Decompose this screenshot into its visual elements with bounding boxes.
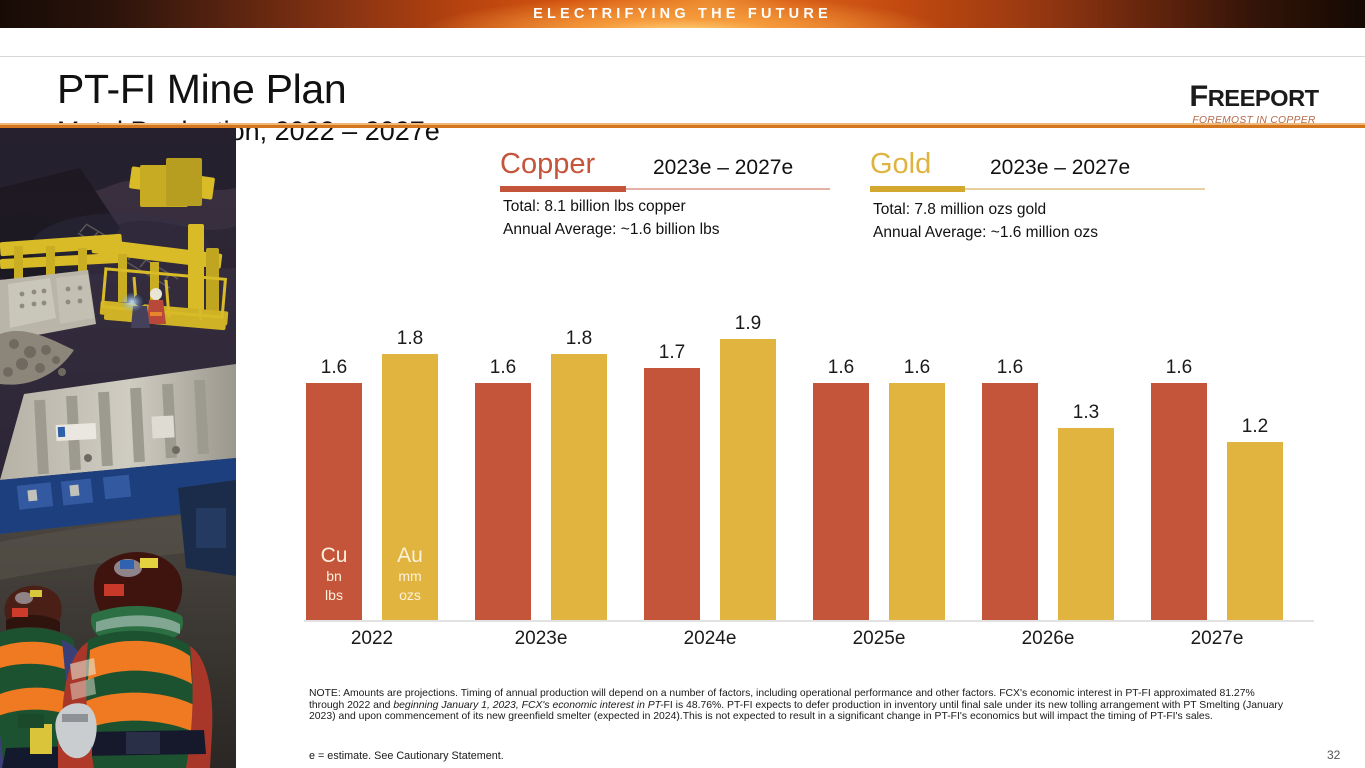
footnote-note: NOTE: Amounts are projections. Timing of… <box>309 688 1284 723</box>
value-label-cu-2026e: 1.6 <box>982 357 1038 379</box>
chart-baseline <box>304 620 1314 622</box>
bar-au-2023e <box>551 354 607 620</box>
bar-au-2027e <box>1227 442 1283 620</box>
x-label-2026e: 2026e <box>973 628 1123 650</box>
x-label-2022: 2022 <box>297 628 447 650</box>
x-label-2027e: 2027e <box>1142 628 1292 650</box>
logo-initial: F <box>1189 80 1207 113</box>
bar-cu-2026e <box>982 383 1038 620</box>
in-bar-annotation-au: Aummozs <box>382 544 438 605</box>
in-bar-annotation-cu: Cubnlbs <box>306 544 362 605</box>
value-label-au-2025e: 1.6 <box>889 357 945 379</box>
in-bar-unit-line1: bn <box>306 567 362 586</box>
value-label-cu-2023e: 1.6 <box>475 357 531 379</box>
value-label-cu-2027e: 1.6 <box>1151 357 1207 379</box>
underground-mine-photo <box>0 128 236 768</box>
value-label-au-2027e: 1.2 <box>1227 416 1283 438</box>
in-bar-unit-line2: ozs <box>382 586 438 605</box>
logo-wordmark: FREEPORT <box>1177 80 1332 114</box>
x-label-2025e: 2025e <box>804 628 954 650</box>
banner-tagline: ELECTRIFYING THE FUTURE <box>0 0 1365 28</box>
header-top-rule <box>0 56 1365 57</box>
value-label-au-2022: 1.8 <box>382 328 438 350</box>
metal-production-bar-chart: 1.6Cubnlbs1.61.71.61.61.61.8Aummozs1.81.… <box>236 128 1365 768</box>
bar-cu-2023e <box>475 383 531 620</box>
in-bar-unit-line2: lbs <box>306 586 362 605</box>
freeport-logo: FREEPORT FOREMOST IN COPPER <box>1179 80 1329 126</box>
in-bar-symbol: Cu <box>306 544 362 567</box>
value-label-cu-2025e: 1.6 <box>813 357 869 379</box>
value-label-au-2023e: 1.8 <box>551 328 607 350</box>
bar-au-2024e <box>720 339 776 620</box>
value-label-au-2026e: 1.3 <box>1058 402 1114 424</box>
value-label-cu-2022: 1.6 <box>306 357 362 379</box>
logo-rest: REEPORT <box>1208 85 1319 111</box>
in-bar-unit-line1: mm <box>382 567 438 586</box>
bar-au-2025e <box>889 383 945 620</box>
in-bar-symbol: Au <box>382 544 438 567</box>
top-banner: ELECTRIFYING THE FUTURE <box>0 0 1365 28</box>
page-number: 32 <box>1327 748 1340 762</box>
value-label-au-2024e: 1.9 <box>720 313 776 335</box>
bar-au-2026e <box>1058 428 1114 620</box>
footnote-italic: beginning January 1, 2023, FCX's economi… <box>393 700 663 711</box>
x-label-2023e: 2023e <box>466 628 616 650</box>
value-label-cu-2024e: 1.7 <box>644 342 700 364</box>
page-title: PT-FI Mine Plan <box>57 66 346 113</box>
x-label-2024e: 2024e <box>635 628 785 650</box>
slide-header: PT-FI Mine Plan Metal Production, 2022 –… <box>0 28 1365 126</box>
bar-cu-2027e <box>1151 383 1207 620</box>
bar-cu-2025e <box>813 383 869 620</box>
footnote-estimate: e = estimate. See Cautionary Statement. <box>309 750 504 762</box>
bar-cu-2024e <box>644 368 700 620</box>
